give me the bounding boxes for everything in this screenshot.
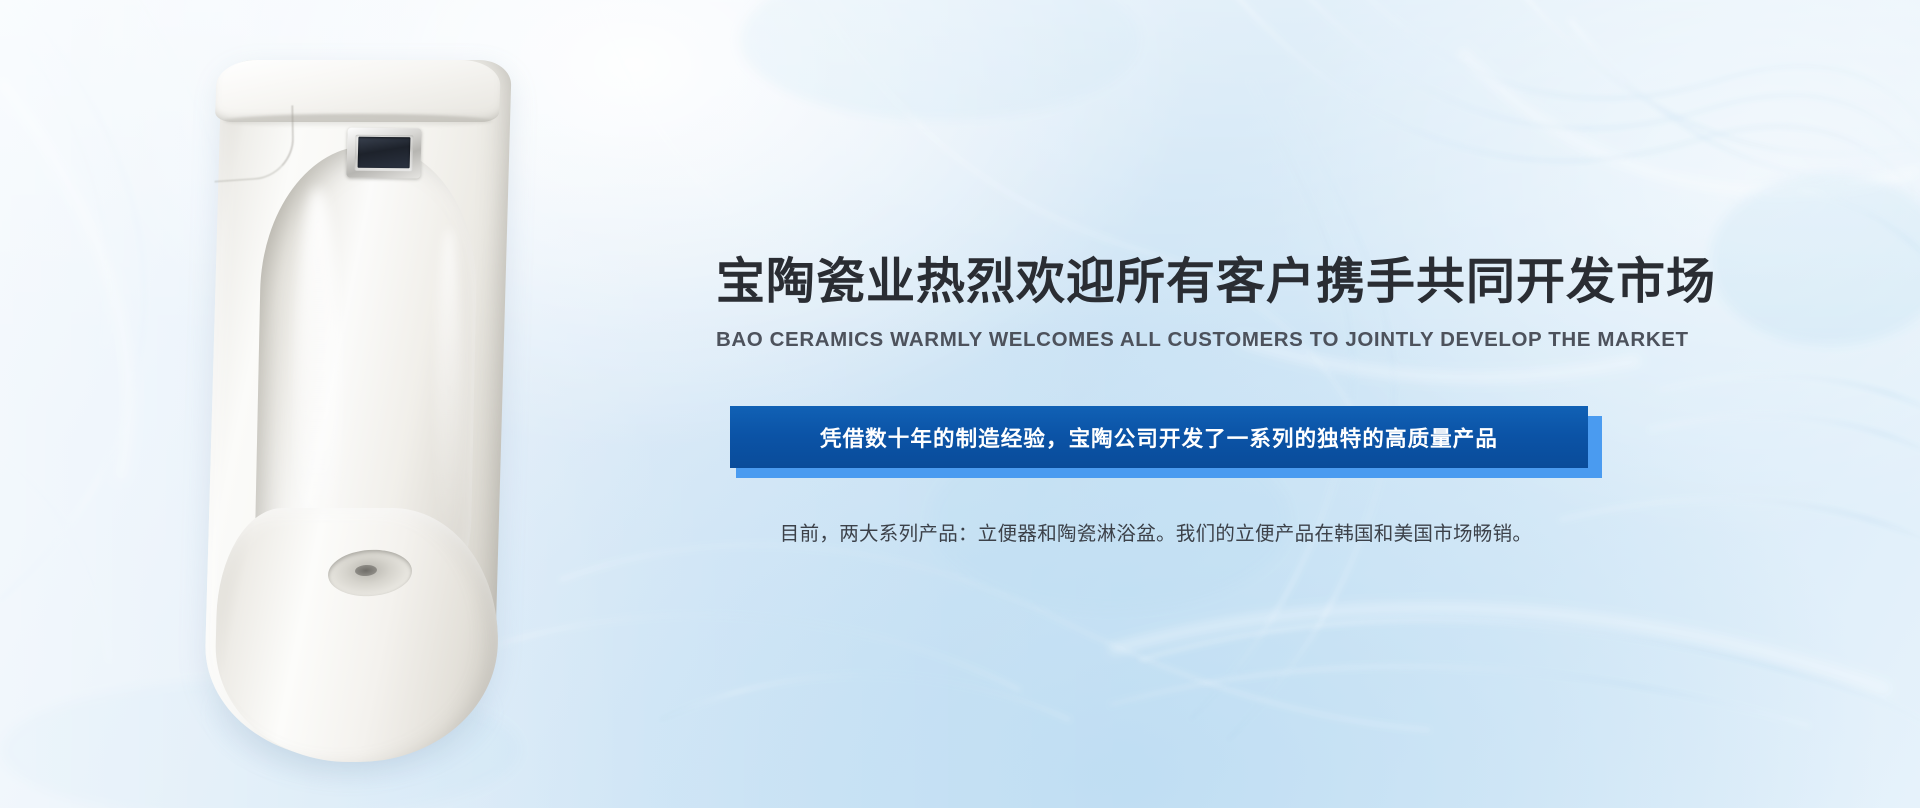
sensor-window [358,137,411,169]
ribbon-label: 凭借数十年的制造经验，宝陶公司开发了一系列的独特的高质量产品 [820,422,1498,453]
hero-description: 目前，两大系列产品：立便器和陶瓷淋浴盆。我们的立便产品在韩国和美国市场畅销。 [716,520,1596,549]
ribbon-body: 凭借数十年的制造经验，宝陶公司开发了一系列的独特的高质量产品 [730,406,1588,468]
product-image-urinal [150,38,580,783]
sensor-icon [346,128,421,179]
page-title: 宝陶瓷业热烈欢迎所有客户携手共同开发市场 [716,255,1596,310]
hero-copy-block: 宝陶瓷业热烈欢迎所有客户携手共同开发市场 BAO CERAMICS WARMLY… [716,255,1596,352]
urinal-gloss-highlight-right [436,228,462,558]
highlight-ribbon: 凭借数十年的制造经验，宝陶公司开发了一系列的独特的高质量产品 [730,406,1596,486]
urinal-lower-shroud [213,508,501,762]
hero-banner: 宝陶瓷业热烈欢迎所有客户携手共同开发市场 BAO CERAMICS WARMLY… [0,0,1920,808]
page-subtitle: BAO CERAMICS WARMLY WELCOMES ALL CUSTOME… [716,328,1596,353]
